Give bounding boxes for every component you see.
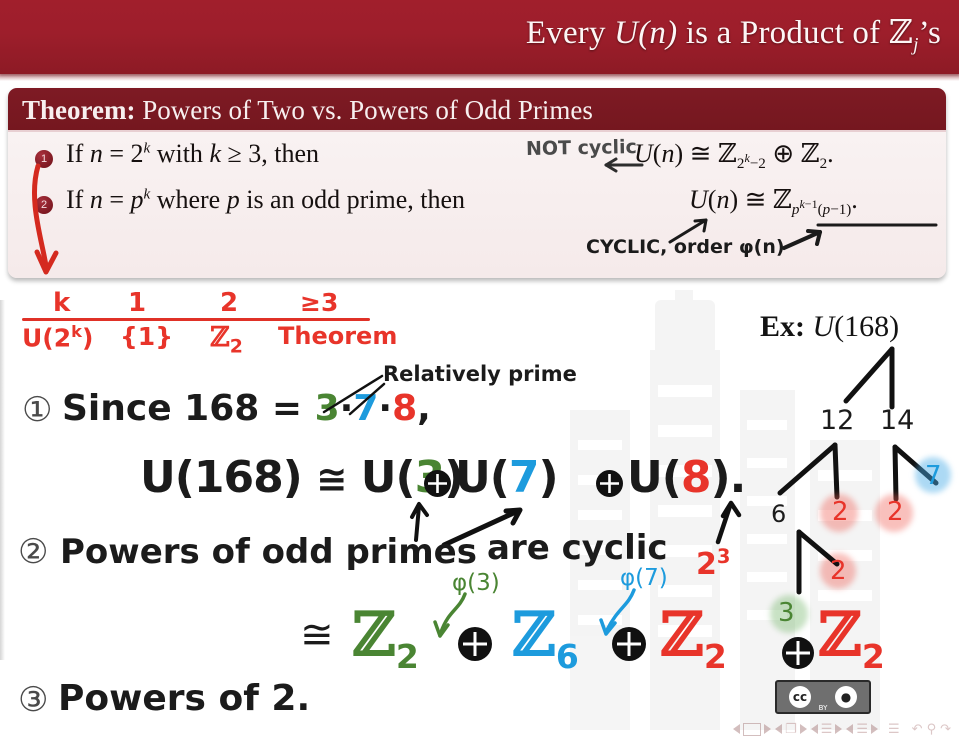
nav-prev-section-icon[interactable]	[811, 724, 818, 734]
nav-prev-frame-icon[interactable]	[733, 724, 740, 734]
nav-prev-part-icon[interactable]	[846, 724, 853, 734]
nav-next-subsection-icon[interactable]	[800, 724, 807, 734]
nav-next-frame-icon[interactable]	[764, 724, 771, 734]
tree-node-2b: 2	[887, 497, 904, 527]
nav-forward-icon[interactable]: ↷	[940, 722, 951, 737]
theorem-header: Theorem: Powers of Two vs. Powers of Odd…	[8, 88, 946, 132]
theorem-header-title: Powers of Two vs. Powers of Odd Primes	[142, 95, 593, 125]
theorem-item-2-conclusion: U(n) ≅ ℤpk−1(p−1).	[689, 185, 858, 219]
step-1-text: Since 168 = 3·7·8,	[62, 388, 431, 429]
step-2-text: Powers of odd primes	[60, 532, 477, 572]
isomorphism-term-u8: U(8).	[627, 452, 745, 503]
tree-node-7: 7	[925, 461, 942, 491]
oplus-icon-4	[612, 627, 646, 661]
tree-node-2c: 2	[830, 556, 847, 586]
theorem-item-1-marker: 1	[35, 150, 53, 168]
final-term-z2-green: ℤ2	[352, 600, 419, 676]
final-congruence-symbol: ≅	[300, 612, 334, 658]
oplus-icon-2	[596, 470, 623, 497]
tree-node-2a: 2	[832, 497, 849, 527]
annotation-relatively-prime: Relatively prime	[383, 362, 577, 386]
phi-3-annotation: φ(3)	[452, 570, 500, 596]
step-3-text: Powers of 2.	[58, 678, 310, 719]
arrow-up-to-u8	[710, 498, 744, 544]
final-term-z2-red-2: ℤ2	[818, 600, 885, 676]
nav-back-icon[interactable]: ↶	[912, 722, 923, 737]
page-title: Every U(n) is a Product of ℤj’s	[526, 12, 941, 57]
theorem-item-2-marker: 2	[35, 196, 53, 214]
red-table-header-ge3: ≥3	[300, 288, 338, 317]
example-heading: Ex: U(168)	[760, 310, 899, 344]
isomorphism-line: U(168) ≅ U(3)	[140, 452, 463, 503]
annotation-cyclic-order: CYCLIC, order φ(n)	[586, 236, 785, 258]
cc-by-label: BY	[819, 704, 828, 712]
nav-frame-icon[interactable]	[743, 723, 761, 736]
nav-part-group[interactable]: ☰	[846, 722, 878, 737]
two-cubed-note: 23	[696, 545, 730, 582]
red-table-header-k: k	[53, 288, 70, 318]
slide-title-bar: Every U(n) is a Product of ℤj’s	[0, 0, 959, 74]
red-table-header-1: 1	[128, 288, 146, 318]
beamer-navigation-bar[interactable]: ❐ ☰ ☰ ☰ ↶ ⚲ ↷	[733, 716, 951, 742]
search-icon[interactable]: ⚲	[927, 722, 937, 737]
step-3-marker: ③	[18, 680, 48, 720]
nav-next-part-icon[interactable]	[871, 724, 878, 734]
theorem-body: 1 If n = 2k with k ≥ 3, then U(n) ≅ ℤ2k−…	[8, 132, 946, 278]
oplus-icon-5	[782, 637, 814, 669]
red-table-cell-k2: ℤ2	[210, 322, 243, 357]
red-table-cell-k1: {1}	[120, 322, 173, 351]
tree-node-14: 14	[880, 405, 914, 436]
annotation-not-cyclic: NOT cyclic	[526, 137, 637, 159]
nav-part-icon[interactable]: ☰	[856, 722, 868, 737]
nav-subsection-group[interactable]: ❐	[775, 722, 807, 737]
nav-frame-group[interactable]	[733, 723, 771, 736]
final-term-z2-red-1: ℤ2	[660, 600, 727, 676]
tree-node-6: 6	[771, 500, 786, 528]
final-term-z6-blue: ℤ6	[512, 600, 579, 676]
left-edge-shadow	[0, 300, 5, 660]
phi-7-annotation: φ(7)	[620, 565, 668, 591]
red-table-rule	[22, 318, 370, 321]
cc-license-badge: cc ● BY	[775, 680, 871, 714]
isomorphism-term-u7: U(7)	[455, 452, 558, 503]
step-2-note: are cyclic	[487, 528, 668, 568]
arrow-cyclic-to-subscript	[784, 220, 944, 254]
cc-by-icon: ●	[835, 686, 857, 708]
slide-canvas: Every U(n) is a Product of ℤj’s Theorem:…	[0, 0, 959, 748]
cc-icon: cc	[789, 686, 811, 708]
nav-subsection-icon[interactable]: ❐	[785, 722, 797, 737]
red-table-header-2: 2	[220, 288, 238, 318]
theorem-item-2-text: If n = pk where p is an odd prime, then	[66, 185, 465, 215]
nav-doc-icon[interactable]: ☰	[888, 722, 900, 737]
oplus-icon-3	[458, 627, 492, 661]
nav-section-group[interactable]: ☰	[811, 722, 843, 737]
step-1-marker: ①	[22, 390, 52, 430]
theorem-item-1-conclusion: U(n) ≅ ℤ2k−2 ⊕ ℤ2.	[634, 139, 834, 173]
tree-node-3: 3	[778, 598, 795, 628]
oplus-icon-1	[424, 470, 451, 497]
theorem-item-1-text: If n = 2k with k ≥ 3, then	[66, 139, 319, 169]
red-table-row-label: U(2k)	[22, 322, 93, 352]
nav-next-section-icon[interactable]	[835, 724, 842, 734]
theorem-block: Theorem: Powers of Two vs. Powers of Odd…	[8, 88, 946, 278]
tree-node-12: 12	[820, 405, 854, 436]
red-table-cell-kge3: Theorem	[278, 322, 397, 350]
nav-section-icon[interactable]: ☰	[821, 722, 833, 737]
theorem-header-label: Theorem:	[22, 95, 135, 125]
nav-prev-subsection-icon[interactable]	[775, 724, 782, 734]
step-2-marker: ②	[18, 532, 48, 572]
